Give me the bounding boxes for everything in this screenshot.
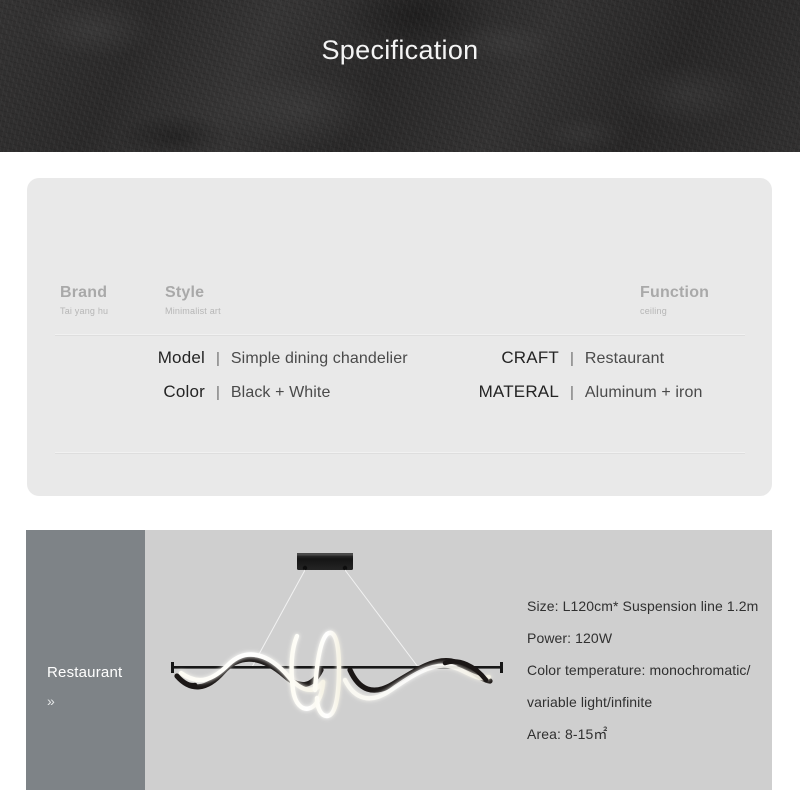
divider-bottom: [55, 452, 745, 454]
product-section: Restaurant »: [26, 530, 772, 790]
spec-label-craft: CRAFT: [427, 348, 559, 368]
specification-card: Brand Tai yang hu Style Minimalist art F…: [27, 178, 772, 496]
header-banner: Specification: [0, 0, 800, 152]
spec-field-style: Style Minimalist art: [165, 284, 221, 317]
page-title: Specification: [0, 35, 800, 66]
spec-field-style-name: Style: [165, 284, 221, 302]
spec-detail-color-temperature: Color temperature: monochromatic/: [527, 654, 777, 686]
spec-row-craft: CRAFT | Restaurant: [427, 348, 702, 382]
spec-column-right: CRAFT | Restaurant MATERAL | Aluminum + …: [427, 348, 702, 416]
divider-top: [55, 334, 745, 336]
spec-detail-area: Area: 8-15㎡: [527, 718, 777, 750]
spec-value-craft: Restaurant: [585, 350, 664, 368]
spec-row-model: Model | Simple dining chandelier: [107, 348, 408, 382]
spec-value-material: Aluminum + iron: [585, 384, 703, 402]
spec-value-color: Black + White: [231, 384, 331, 402]
chevron-right-icon: »: [47, 694, 55, 708]
product-spec-list: Size: L120cm* Suspension line 1.2m Power…: [527, 590, 777, 750]
category-panel[interactable]: Restaurant »: [26, 530, 145, 790]
spec-label-material: MATERAL: [427, 382, 559, 402]
spec-label-color: Color: [107, 382, 205, 402]
spec-detail-power: Power: 120W: [527, 622, 777, 654]
spec-separator: |: [559, 384, 585, 401]
suspension-wire-right: [345, 570, 418, 667]
spec-field-function: Function ceiling: [640, 284, 709, 317]
spec-field-brand-value: Tai yang hu: [60, 306, 108, 317]
suspension-wire-left: [252, 570, 305, 667]
spec-row-color: Color | Black + White: [107, 382, 408, 416]
spec-detail-color-temperature-cont: variable light/infinite: [527, 686, 777, 718]
spec-field-function-name: Function: [640, 284, 709, 302]
spec-separator: |: [559, 350, 585, 367]
product-panel: Size: L120cm* Suspension line 1.2m Power…: [145, 530, 772, 790]
spec-field-brand: Brand Tai yang hu: [60, 284, 108, 317]
spec-separator: |: [205, 384, 231, 401]
spec-field-style-value: Minimalist art: [165, 306, 221, 317]
category-label: Restaurant: [47, 664, 122, 681]
spec-field-function-value: ceiling: [640, 306, 709, 317]
spec-field-brand-name: Brand: [60, 284, 108, 302]
spec-label-model: Model: [107, 348, 205, 368]
spec-value-model: Simple dining chandelier: [231, 350, 408, 368]
spec-column-left: Model | Simple dining chandelier Color |…: [107, 348, 408, 416]
spec-detail-size: Size: L120cm* Suspension line 1.2m: [527, 590, 777, 622]
spec-top-fields: Brand Tai yang hu Style Minimalist art F…: [27, 178, 772, 334]
product-chandelier-image: [145, 530, 525, 790]
spec-separator: |: [205, 350, 231, 367]
spec-row-material: MATERAL | Aluminum + iron: [427, 382, 702, 416]
led-ribbon-dark-left: [177, 659, 321, 687]
